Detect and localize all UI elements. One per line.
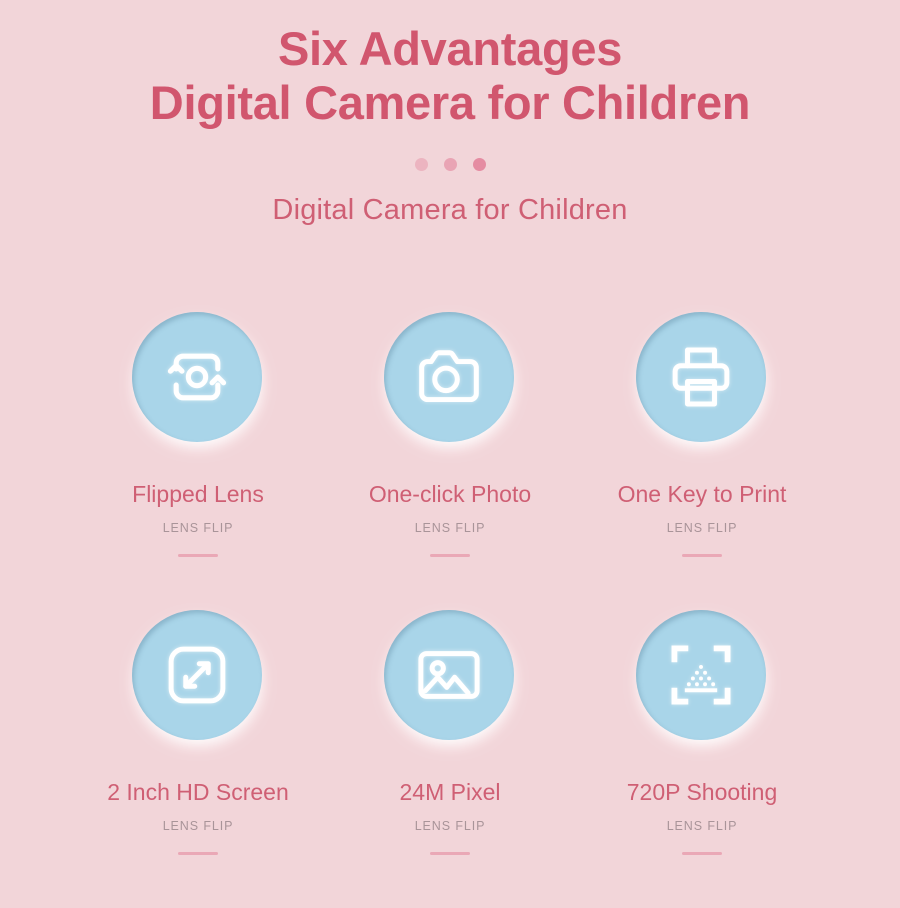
feature-divider [430,852,470,855]
screen-expand-icon [161,639,233,711]
camera-icon [411,339,487,415]
icon-circle [636,610,766,740]
feature-title: One Key to Print [618,481,787,508]
feature-title: 720P Shooting [627,779,778,806]
icon-badge-720p-shooting [636,610,768,742]
icon-circle [132,610,262,740]
icon-circle [636,312,766,442]
feature-item-720p-shooting: 720P Shooting LENS FLIP [576,610,828,908]
feature-divider [178,554,218,557]
printer-icon [665,341,737,413]
promo-page: Six Advantages Digital Camera for Childr… [0,0,900,900]
feature-grid: Flipped Lens LENS FLIP One-click Photo L… [0,312,900,908]
icon-circle [384,610,514,740]
feature-divider [178,852,218,855]
icon-badge-flipped-lens [132,312,264,444]
dot-2-icon [444,158,457,171]
page-title-line-2: Digital Camera for Children [0,76,900,130]
icon-circle [384,312,514,442]
feature-title: 24M Pixel [400,779,501,806]
page-subtitle: Digital Camera for Children [0,194,900,227]
flipped-lens-icon [160,340,234,414]
feature-caption: LENS FLIP [163,521,234,535]
icon-badge-24m-pixel [384,610,516,742]
decorative-dots [400,156,500,172]
icon-badge-2-inch-hd-screen [132,610,264,742]
feature-caption: LENS FLIP [415,819,486,833]
feature-caption: LENS FLIP [415,521,486,535]
icon-circle [132,312,262,442]
dot-3-icon [473,158,486,171]
icon-badge-one-click-photo [384,312,516,444]
page-title: Six Advantages Digital Camera for Childr… [0,22,900,130]
focus-frame-icon [664,638,738,712]
icon-badge-one-key-to-print [636,312,768,444]
feature-item-one-click-photo: One-click Photo LENS FLIP [324,312,576,610]
feature-divider [682,852,722,855]
feature-item-flipped-lens: Flipped Lens LENS FLIP [72,312,324,610]
feature-item-24m-pixel: 24M Pixel LENS FLIP [324,610,576,908]
picture-icon [413,639,485,711]
feature-title: Flipped Lens [132,481,264,508]
feature-item-one-key-to-print: One Key to Print LENS FLIP [576,312,828,610]
feature-caption: LENS FLIP [667,521,738,535]
feature-caption: LENS FLIP [163,819,234,833]
feature-divider [682,554,722,557]
page-title-line-1: Six Advantages [0,22,900,76]
dot-1-icon [415,158,428,171]
feature-divider [430,554,470,557]
feature-title: 2 Inch HD Screen [107,779,289,806]
feature-caption: LENS FLIP [667,819,738,833]
page-header: Six Advantages Digital Camera for Childr… [0,0,900,227]
feature-item-2-inch-hd-screen: 2 Inch HD Screen LENS FLIP [72,610,324,908]
feature-title: One-click Photo [369,481,531,508]
